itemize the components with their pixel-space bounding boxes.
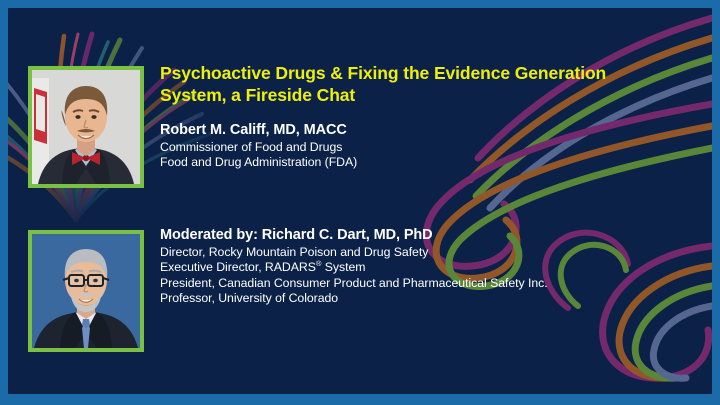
moderator-block: Moderated by: Richard C. Dart, MD, PhD D… <box>160 226 680 307</box>
slide-root: Psychoactive Drugs & Fixing the Evidence… <box>0 0 720 405</box>
moderator-name: Moderated by: Richard C. Dart, MD, PhD <box>160 226 680 244</box>
moderator-role-2-text: Executive Director, RADARS <box>160 260 316 274</box>
speaker-name: Robert M. Califf, MD, MACC <box>160 121 680 139</box>
speaker-block: Robert M. Califf, MD, MACC Commissioner … <box>160 121 680 171</box>
speaker-photo <box>28 66 144 188</box>
moderator-role-2: Executive Director, RADARS® System <box>160 260 680 275</box>
moderator-photo <box>28 230 144 352</box>
slide-title: Psychoactive Drugs & Fixing the Evidence… <box>160 63 680 106</box>
speaker-portrait-image <box>32 70 140 184</box>
moderator-portrait-image <box>32 234 140 348</box>
moderator-role-4: Professor, University of Colorado <box>160 291 680 306</box>
slide-title-line-1: Psychoactive Drugs & Fixing the Evidence… <box>160 63 680 85</box>
slide-title-line-2: System, a Fireside Chat <box>160 85 680 107</box>
speaker-role-2: Food and Drug Administration (FDA) <box>160 155 680 170</box>
moderator-role-3: President, Canadian Consumer Product and… <box>160 276 680 291</box>
moderator-role-2-suffix: System <box>321 260 365 274</box>
moderator-role-1: Director, Rocky Mountain Poison and Drug… <box>160 245 680 260</box>
speaker-role-1: Commissioner of Food and Drugs <box>160 140 680 155</box>
slide-canvas: Psychoactive Drugs & Fixing the Evidence… <box>8 8 712 394</box>
